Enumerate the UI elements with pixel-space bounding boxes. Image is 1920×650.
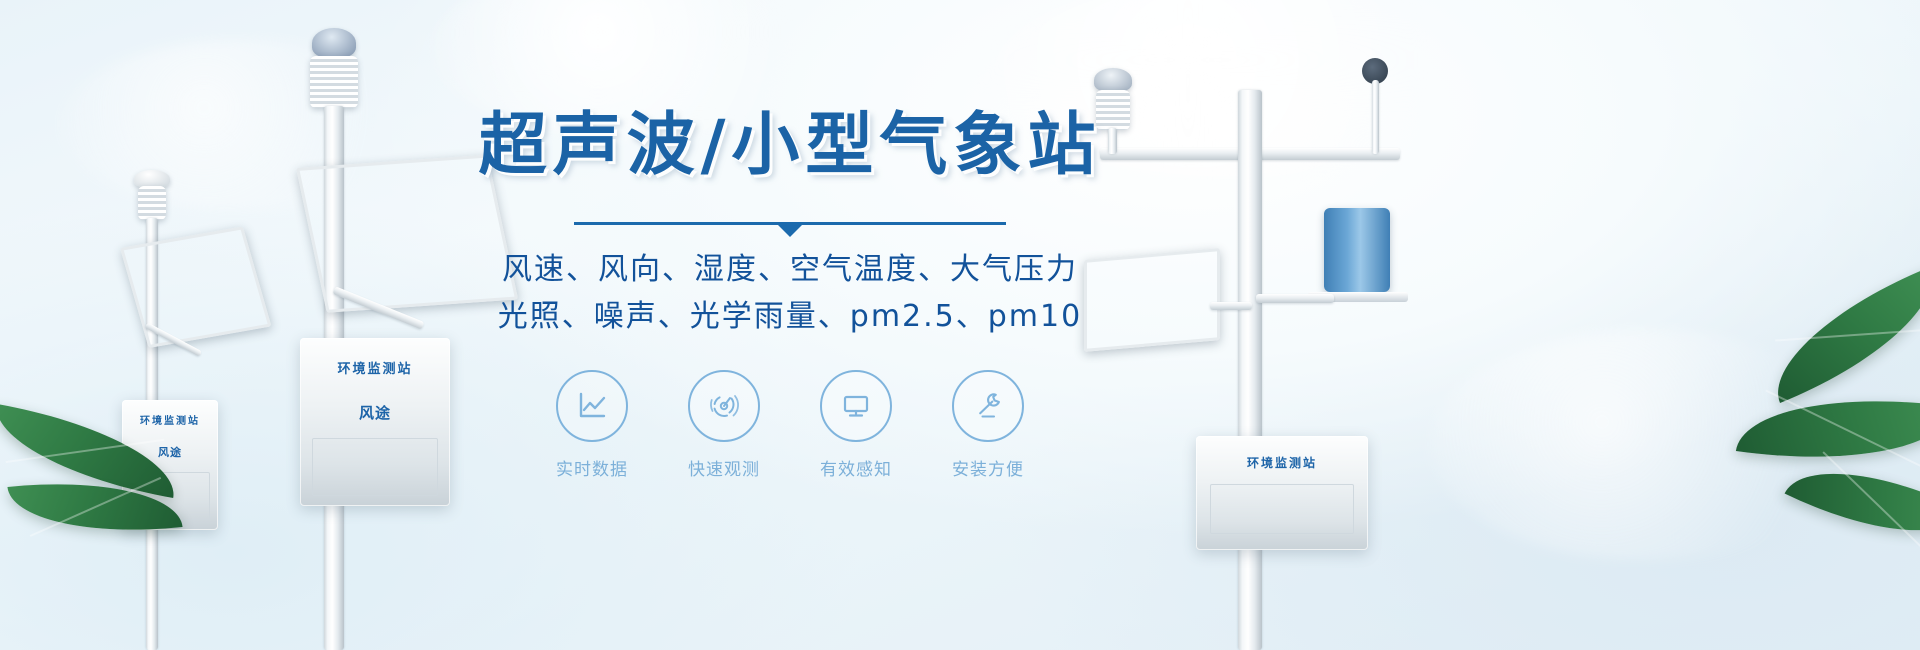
feature-fast-observation[interactable]: 快速观测 [681,370,767,480]
rain-gauge-icon [1324,208,1390,292]
feature-effective-sensing[interactable]: 有效感知 [813,370,899,480]
subtitle: 风速、风向、湿度、空气温度、大气压力 光照、噪声、光学雨量、pm2.5、pm10 [498,247,1082,340]
subtitle-line-1: 风速、风向、湿度、空气温度、大气压力 [498,247,1082,294]
headline-part1: 超声波 [479,106,701,185]
arm-drop-right [1372,80,1379,154]
cabinet-door-seam [312,438,438,496]
gauge-support-arm [1256,294,1334,303]
feature-icon-circle [952,370,1024,442]
brand-label: 风途 [300,402,450,423]
caret-down-icon [778,225,802,237]
banner-stage: 环境监测站 风途 环境监测站 风途 [0,0,1920,650]
cabinet-center: 环境监测站 风途 [300,338,450,506]
cabinet-right: 环境监测站 [1196,436,1368,550]
monitor-icon [837,387,875,425]
headline-part2: 小型气象站 [731,106,1101,185]
cabinet-label: 环境监测站 [1196,454,1368,471]
feature-icon-circle [556,370,628,442]
cabinet-label: 环境监测站 [300,358,450,377]
ultrasonic-wind-sensor-icon [312,28,356,58]
line-chart-icon [573,387,611,425]
feature-icon-circle [688,370,760,442]
headline-slash: / [701,106,732,185]
cabinet-label: 环境监测站 [122,412,218,427]
page-title: 超声波/小型气象站 [479,112,1102,180]
radiation-shield-icon [138,186,166,220]
panel-brace [1210,302,1252,310]
feature-easy-installation[interactable]: 安装方便 [945,370,1031,480]
solar-panel [120,226,271,348]
radar-scan-icon [705,387,743,425]
banner-content: 超声波/小型气象站 风速、风向、湿度、空气温度、大气压力 光照、噪声、光学雨量、… [440,0,1140,650]
feature-label: 安装方便 [952,455,1024,480]
divider [574,222,1006,225]
feature-label: 快速观测 [688,455,760,480]
radiation-shield-icon [310,56,358,108]
wrench-icon [969,387,1007,425]
mast-pole [1238,90,1262,650]
feature-list: 实时数据 快速观测 [549,370,1031,480]
feature-label: 有效感知 [820,455,892,480]
feature-icon-circle [820,370,892,442]
feature-realtime-data[interactable]: 实时数据 [549,370,635,480]
cabinet-door-seam [1210,484,1354,534]
feature-label: 实时数据 [556,455,628,480]
subtitle-line-2: 光照、噪声、光学雨量、pm2.5、pm10 [498,294,1082,341]
